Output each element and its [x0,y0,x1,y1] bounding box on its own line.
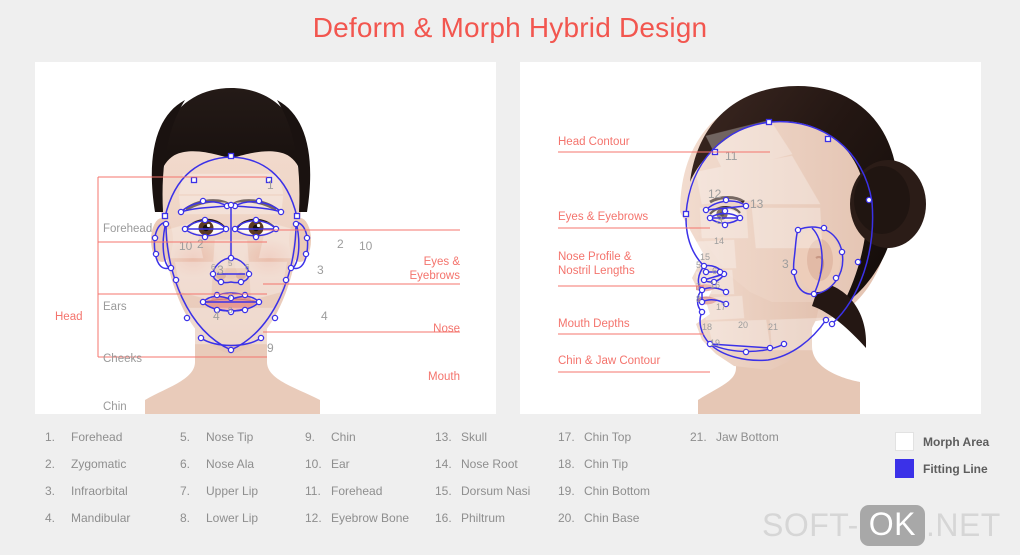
svg-text:12: 12 [708,187,722,201]
legend-item: 8.Lower Lip [180,511,258,538]
svg-text:21: 21 [768,322,778,332]
legend-number: 4. [45,511,71,525]
fitting-line-swatch-icon [895,459,914,478]
legend-number: 21. [690,430,716,444]
legend-item: 19.Chin Bottom [558,484,650,511]
legend-item: 20.Chin Base [558,511,650,538]
legend-item: 14.Nose Root [435,457,530,484]
legend-label: Ear [331,457,350,471]
legend-number: 8. [180,511,206,525]
legend-number: 17. [558,430,584,444]
svg-text:6: 6 [712,266,717,276]
legend-label: Mandibular [71,511,130,525]
svg-text:3: 3 [782,257,789,271]
page-root: Deform & Morph Hybrid Design [0,0,1020,555]
legend-item: 2.Zygomatic [45,457,130,484]
watermark-part-1: SOFT- [762,507,859,544]
svg-text:1: 1 [267,178,274,192]
legend-number: 2. [45,457,71,471]
svg-text:3: 3 [317,263,324,277]
legend-item: 11.Forehead [305,484,409,511]
svg-text:5: 5 [228,259,233,268]
svg-text:18: 18 [702,322,712,332]
svg-text:7: 7 [228,292,233,301]
legend-number: 14. [435,457,461,471]
svg-text:2: 2 [197,237,204,251]
profile-face-illustration: 11 12 13 3 3 14 15 16 17 18 19 20 21 5 6… [520,62,981,414]
legend-label: Nose Tip [206,430,253,444]
legend-label: Philtrum [461,511,505,525]
key-label: Fitting Line [923,462,988,476]
svg-text:8: 8 [696,294,701,304]
legend-column-1: 1.Forehead 2.Zygomatic 3.Infraorbital 4.… [45,430,130,538]
legend-label: Chin [331,430,356,444]
profile-view-panel: 11 12 13 3 3 14 15 16 17 18 19 20 21 5 6… [520,62,981,414]
page-title: Deform & Morph Hybrid Design [0,12,1020,44]
legend-column-2: 5.Nose Tip 6.Nose Ala 7.Upper Lip 8.Lowe… [180,430,258,538]
svg-text:20: 20 [738,320,748,330]
svg-text:4: 4 [213,309,220,323]
legend-item: 17.Chin Top [558,430,650,457]
legend-item: 3.Infraorbital [45,484,130,511]
legend-label: Dorsum Nasi [461,484,530,498]
legend-number: 1. [45,430,71,444]
legend-number: 7. [180,484,206,498]
legend-column-5: 17.Chin Top 18.Chin Tip 19.Chin Bottom 2… [558,430,650,538]
front-view-panel: 1 22 33 44 9 1010 5 66 78 [35,62,496,414]
legend-label: Chin Tip [584,457,628,471]
legend-number: 13. [435,430,461,444]
svg-text:6: 6 [211,263,216,272]
legend-label: Infraorbital [71,484,128,498]
legend-number: 6. [180,457,206,471]
front-face-illustration: 1 22 33 44 9 1010 5 66 78 [35,62,496,414]
legend-number: 10. [305,457,331,471]
legend-item: 1.Forehead [45,430,130,457]
morph-area-swatch-icon [895,432,914,451]
watermark-part-3: .NET [926,507,1001,544]
svg-text:16: 16 [710,280,720,290]
legend-number: 20. [558,511,584,525]
legend-item: 7.Upper Lip [180,484,258,511]
legend-item: 5.Nose Tip [180,430,258,457]
legend-label: Zygomatic [71,457,126,471]
legend-number: 11. [305,484,331,498]
legend-item: 9.Chin [305,430,409,457]
legend-number: 3. [45,484,71,498]
legend-item: 21.Jaw Bottom [690,430,779,457]
svg-text:2: 2 [337,237,344,251]
svg-text:4: 4 [321,309,328,323]
key-morph-area: Morph Area [895,428,1015,455]
legend-number: 18. [558,457,584,471]
svg-text:3: 3 [217,263,224,277]
svg-text:14: 14 [714,236,724,246]
legend-item: 12.Eyebrow Bone [305,511,409,538]
legend-column-6: 21.Jaw Bottom [690,430,779,457]
svg-text:10: 10 [359,239,373,253]
svg-text:8: 8 [228,306,233,315]
legend-label: Skull [461,430,487,444]
svg-text:3: 3 [716,213,723,227]
svg-text:15: 15 [700,252,710,262]
legend-number: 5. [180,430,206,444]
legend-label: Chin Top [584,430,631,444]
svg-text:17: 17 [716,302,726,312]
legend-number: 19. [558,484,584,498]
svg-text:5: 5 [696,260,701,270]
legend-label: Chin Base [584,511,639,525]
watermark: SOFT- OK .NET [762,505,1001,546]
svg-text:7: 7 [696,282,701,292]
legend-item: 10.Ear [305,457,409,484]
legend-label: Lower Lip [206,511,258,525]
legend-item: 18.Chin Tip [558,457,650,484]
legend-label: Upper Lip [206,484,258,498]
svg-text:11: 11 [725,149,738,163]
legend-item: 6.Nose Ala [180,457,258,484]
svg-text:6: 6 [245,263,250,272]
legend-item: 16.Philtrum [435,511,530,538]
legend-label: Forehead [71,430,122,444]
legend-label: Forehead [331,484,382,498]
svg-text:19: 19 [710,338,720,348]
svg-text:13: 13 [750,197,764,211]
legend-item: 15.Dorsum Nasi [435,484,530,511]
legend-keys: Morph Area Fitting Line [895,428,1015,482]
legend-column-4: 13.Skull 14.Nose Root 15.Dorsum Nasi 16.… [435,430,530,538]
legend-label: Nose Root [461,457,518,471]
legend-column-3: 9.Chin 10.Ear 11.Forehead 12.Eyebrow Bon… [305,430,409,538]
legend-label: Eyebrow Bone [331,511,409,525]
legend-number: 12. [305,511,331,525]
key-fitting-line: Fitting Line [895,455,1015,482]
legend-number: 16. [435,511,461,525]
legend-label: Nose Ala [206,457,254,471]
svg-text:10: 10 [179,239,193,253]
svg-text:9: 9 [267,341,274,355]
legend-number: 9. [305,430,331,444]
key-label: Morph Area [923,435,989,449]
legend-label: Chin Bottom [584,484,650,498]
legend-item: 4.Mandibular [45,511,130,538]
watermark-part-2: OK [860,505,925,546]
legend-item: 13.Skull [435,430,530,457]
legend-number: 15. [435,484,461,498]
legend-label: Jaw Bottom [716,430,779,444]
